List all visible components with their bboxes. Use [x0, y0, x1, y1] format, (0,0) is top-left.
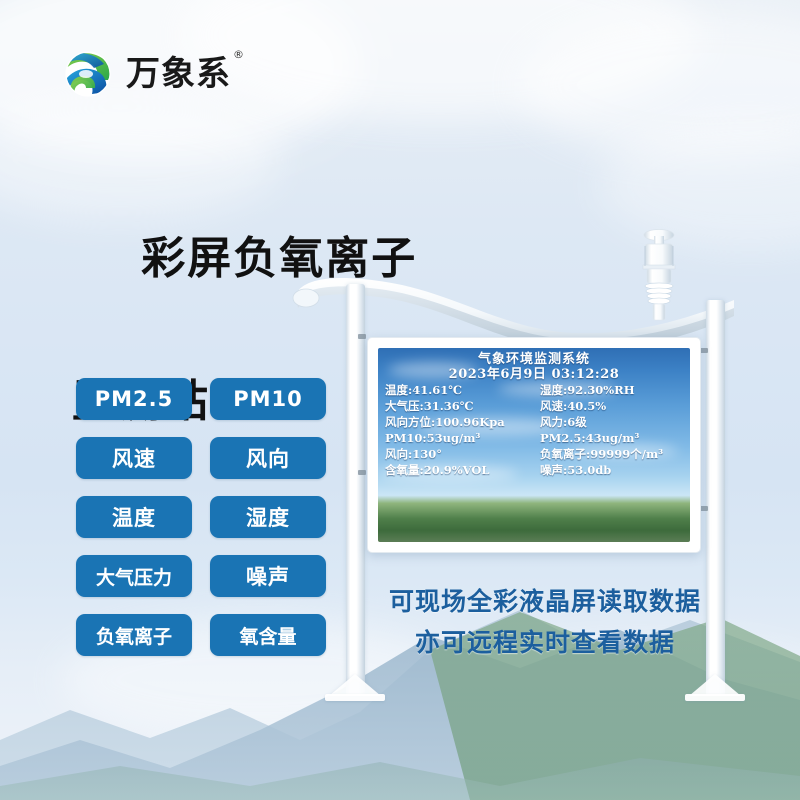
lcd-value-oxygen-content: 含氧量:20.9%VOL	[385, 465, 534, 477]
post-base-plate-left	[325, 694, 385, 701]
lcd-value-wind-direction: 风向:130°	[385, 449, 534, 461]
lcd-title: 气象环境监测系统	[385, 353, 683, 366]
lcd-value-temperature: 温度:41.61℃	[385, 385, 534, 397]
lcd-datetime: 2023年6月9日 03:12:28	[385, 368, 683, 381]
lcd-value-humidity: 湿度:92.30%RH	[534, 385, 689, 397]
lcd-value-negative-oxygen-ion: 负氧离子:99999个/m³	[534, 449, 689, 461]
lcd-value-pm25: PM2.5:43ug/m³	[534, 433, 689, 445]
support-post-left	[346, 284, 365, 696]
lcd-row: PM10:53ug/m³ PM2.5:43ug/m³	[385, 433, 683, 445]
post-base-right	[689, 674, 741, 696]
lcd-value-wind-bearing: 风向方位:100.96Kpa	[385, 417, 534, 429]
product-promo-image: 万象系 ® 彩屏负氧离子 监测站 PM2.5 PM10 风速 风向 温度 湿度 …	[0, 0, 800, 800]
lcd-display-panel[interactable]: 气象环境监测系统 2023年6月9日 03:12:28 温度:41.61℃ 湿度…	[367, 337, 701, 553]
panel-hanger-bracket	[700, 506, 708, 511]
feature-caption: 可现场全彩液晶屏读取数据 亦可远程实时查看数据	[380, 582, 710, 663]
lcd-value-wind-force: 风力:6级	[534, 417, 689, 429]
post-base-left	[329, 674, 381, 696]
lcd-row: 风向方位:100.96Kpa 风力:6级	[385, 417, 683, 429]
lcd-row: 风向:130° 负氧离子:99999个/m³	[385, 449, 683, 461]
panel-hanger-bracket	[358, 334, 366, 339]
lcd-row: 温度:41.61℃ 湿度:92.30%RH	[385, 385, 683, 397]
lcd-value-pm10: PM10:53ug/m³	[385, 433, 534, 445]
lcd-value-air-pressure: 大气压:31.36℃	[385, 401, 534, 413]
ultrasonic-weather-sensor-icon	[628, 226, 690, 324]
lcd-row: 大气压:31.36℃ 风速:40.5%	[385, 401, 683, 413]
lcd-measurement-rows: 温度:41.61℃ 湿度:92.30%RH 大气压:31.36℃ 风速:40.5…	[385, 385, 683, 477]
panel-hanger-bracket	[700, 348, 708, 353]
lcd-readout: 气象环境监测系统 2023年6月9日 03:12:28 温度:41.61℃ 湿度…	[378, 348, 690, 542]
caption-line-1: 可现场全彩液晶屏读取数据	[389, 587, 701, 616]
lcd-row: 含氧量:20.9%VOL 噪声:53.0db	[385, 465, 683, 477]
panel-hanger-bracket	[358, 470, 366, 475]
lcd-value-wind-speed: 风速:40.5%	[534, 401, 689, 413]
lcd-value-noise: 噪声:53.0db	[534, 465, 689, 477]
lcd-screen: 气象环境监测系统 2023年6月9日 03:12:28 温度:41.61℃ 湿度…	[378, 348, 690, 542]
caption-line-2: 亦可远程实时查看数据	[380, 623, 710, 664]
post-base-plate-right	[685, 694, 745, 701]
